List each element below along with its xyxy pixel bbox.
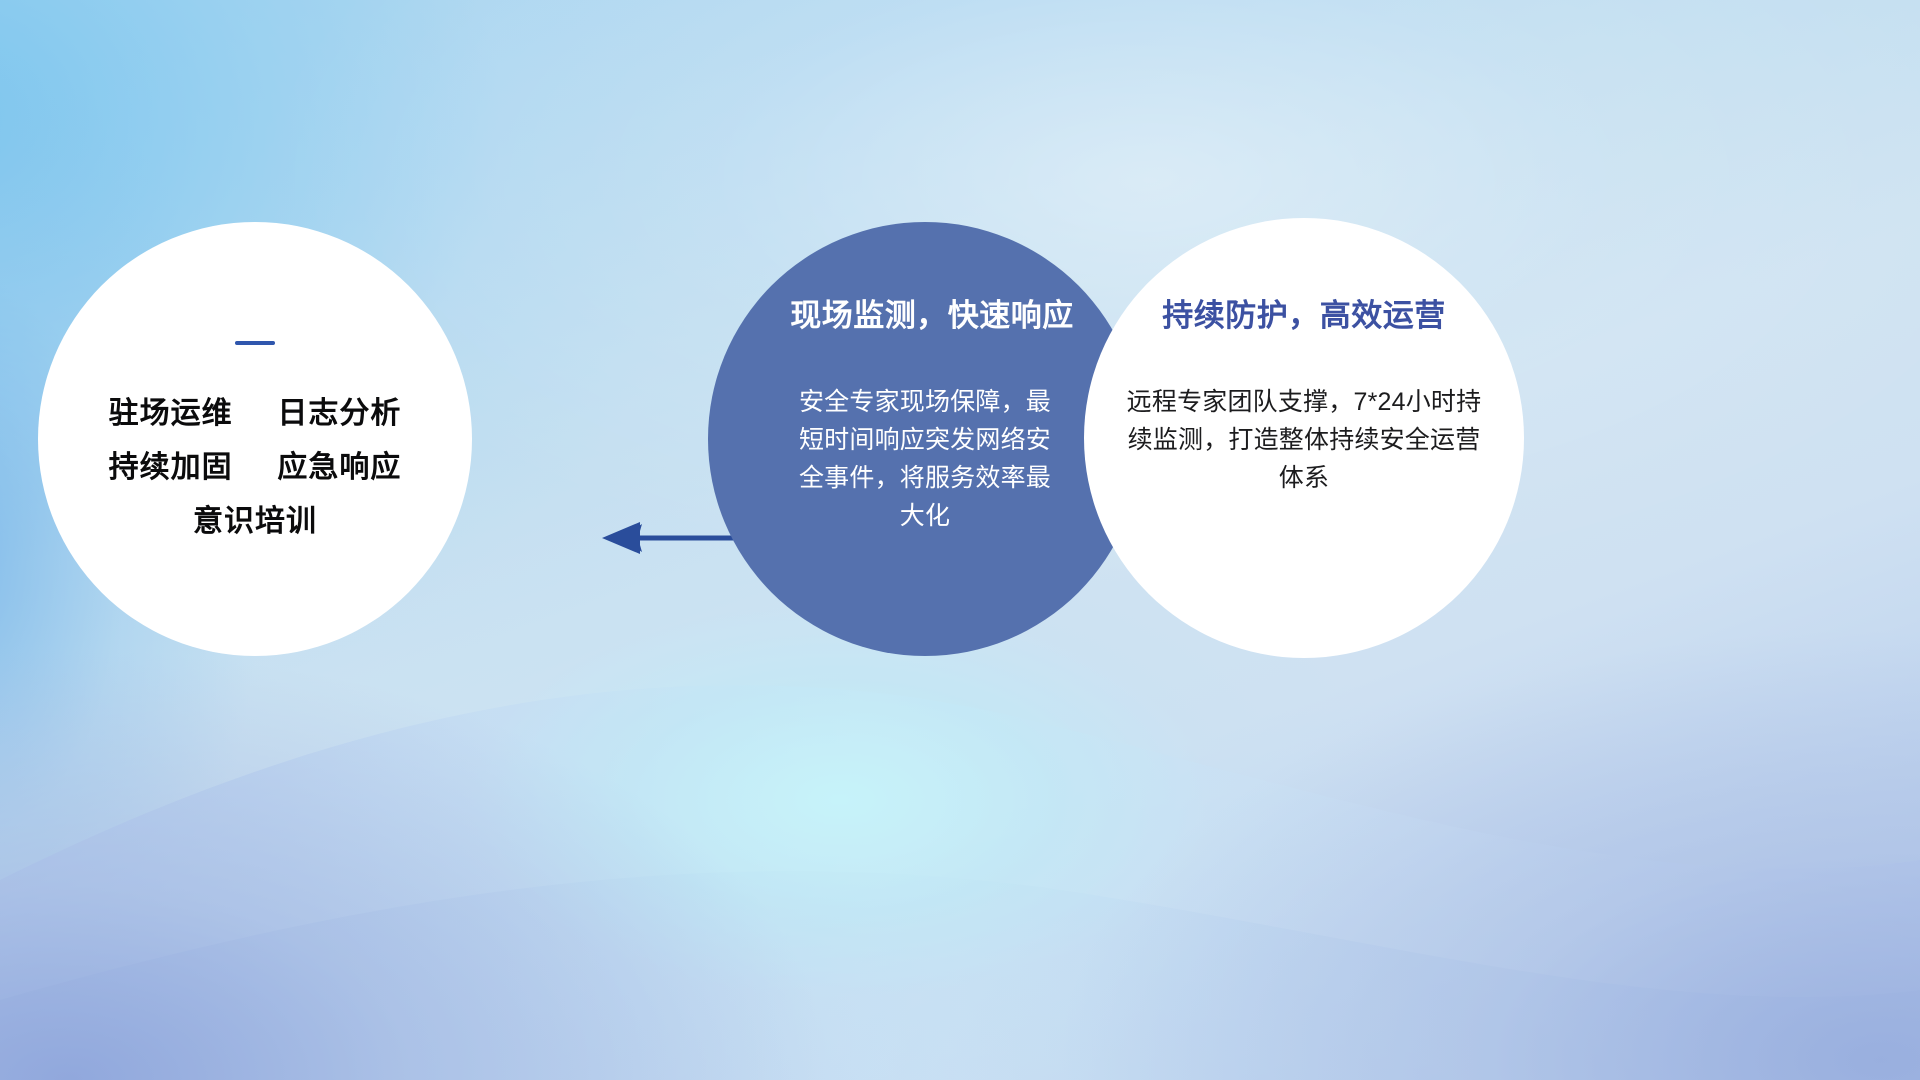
divider-dash-icon <box>235 341 275 345</box>
capability-row: 驻场运维 日志分析 <box>109 397 402 430</box>
slide-canvas: 驻场运维 日志分析 持续加固 应急响应 意识培训 现场监测，快速响应 安全专家现… <box>0 0 1920 1080</box>
middle-circle-title: 现场监测，快速响应 <box>790 290 1074 335</box>
service-capabilities-circle: 驻场运维 日志分析 持续加固 应急响应 意识培训 <box>38 222 472 656</box>
continuous-protection-circle: 持续防护，高效运营 远程专家团队支撑，7*24小时持续监测，打造整体持续安全运营… <box>1084 218 1524 658</box>
capability-item: 驻场运维 <box>109 397 233 430</box>
right-circle-content: 持续防护，高效运营 远程专家团队支撑，7*24小时持续监测，打造整体持续安全运营… <box>1084 218 1524 658</box>
capability-item: 应急响应 <box>277 451 401 484</box>
capability-list: 驻场运维 日志分析 持续加固 应急响应 意识培训 <box>109 397 402 538</box>
right-circle-body: 远程专家团队支撑，7*24小时持续监测，打造整体持续安全运营体系 <box>1119 383 1489 497</box>
capability-item: 日志分析 <box>277 397 401 430</box>
left-circle-content: 驻场运维 日志分析 持续加固 应急响应 意识培训 <box>38 222 472 656</box>
capability-item: 意识培训 <box>193 505 317 538</box>
capability-item: 持续加固 <box>109 451 233 484</box>
capability-row: 意识培训 <box>193 505 317 538</box>
right-circle-title: 持续防护，高效运营 <box>1162 290 1446 335</box>
middle-circle-content: 现场监测，快速响应 安全专家现场保障，最短时间响应突发网络安全事件，将服务效率最… <box>708 222 1142 656</box>
capability-row: 持续加固 应急响应 <box>109 451 402 484</box>
onsite-monitoring-circle: 现场监测，快速响应 安全专家现场保障，最短时间响应突发网络安全事件，将服务效率最… <box>708 222 1142 656</box>
middle-circle-body: 安全专家现场保障，最短时间响应突发网络安全事件，将服务效率最大化 <box>789 383 1061 535</box>
